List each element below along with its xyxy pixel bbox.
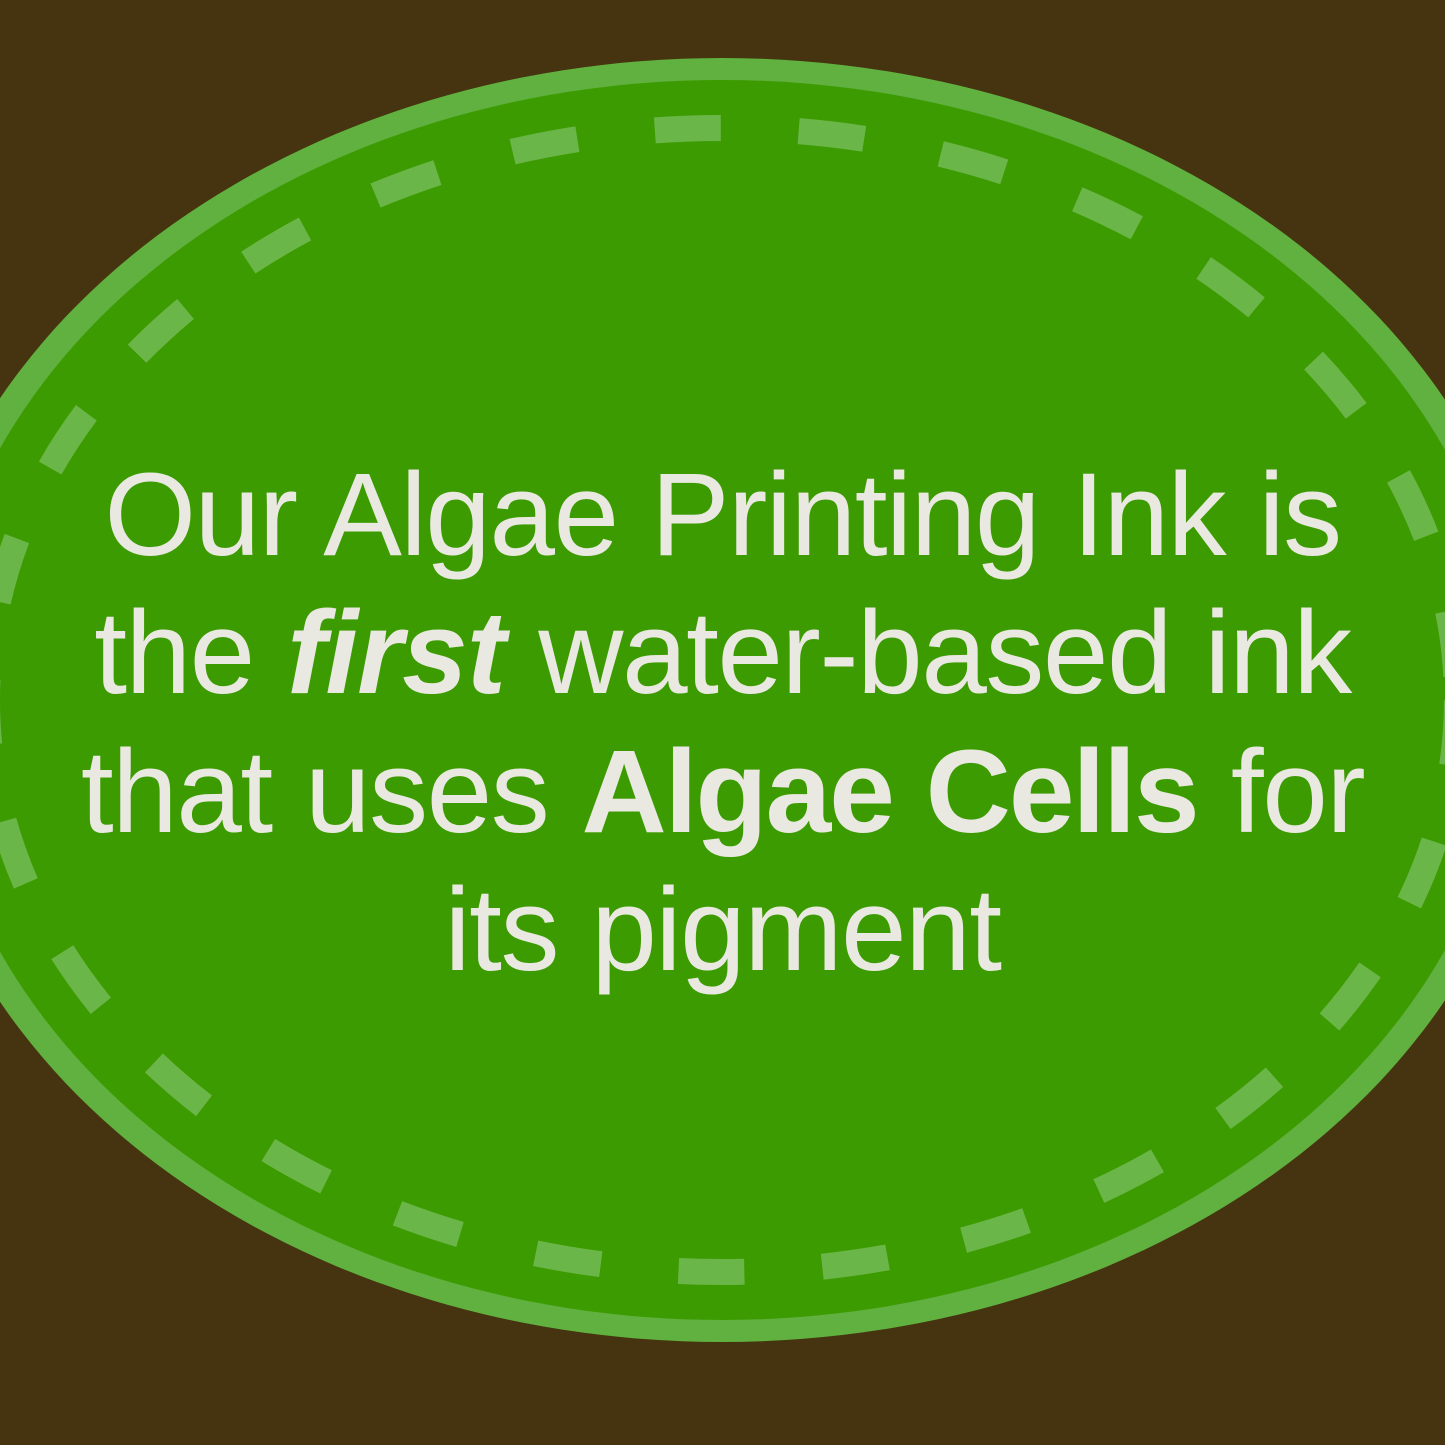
- statement-emphasis-first: first: [287, 587, 505, 719]
- statement-text-container: Our Algae Printing Ink is the first wate…: [0, 0, 1445, 1445]
- statement-paragraph: Our Algae Printing Ink is the first wate…: [28, 446, 1417, 998]
- statement-emphasis-algae-cells: Algae Cells: [581, 726, 1197, 858]
- algae-ink-statement-card: Our Algae Printing Ink is the first wate…: [0, 0, 1445, 1445]
